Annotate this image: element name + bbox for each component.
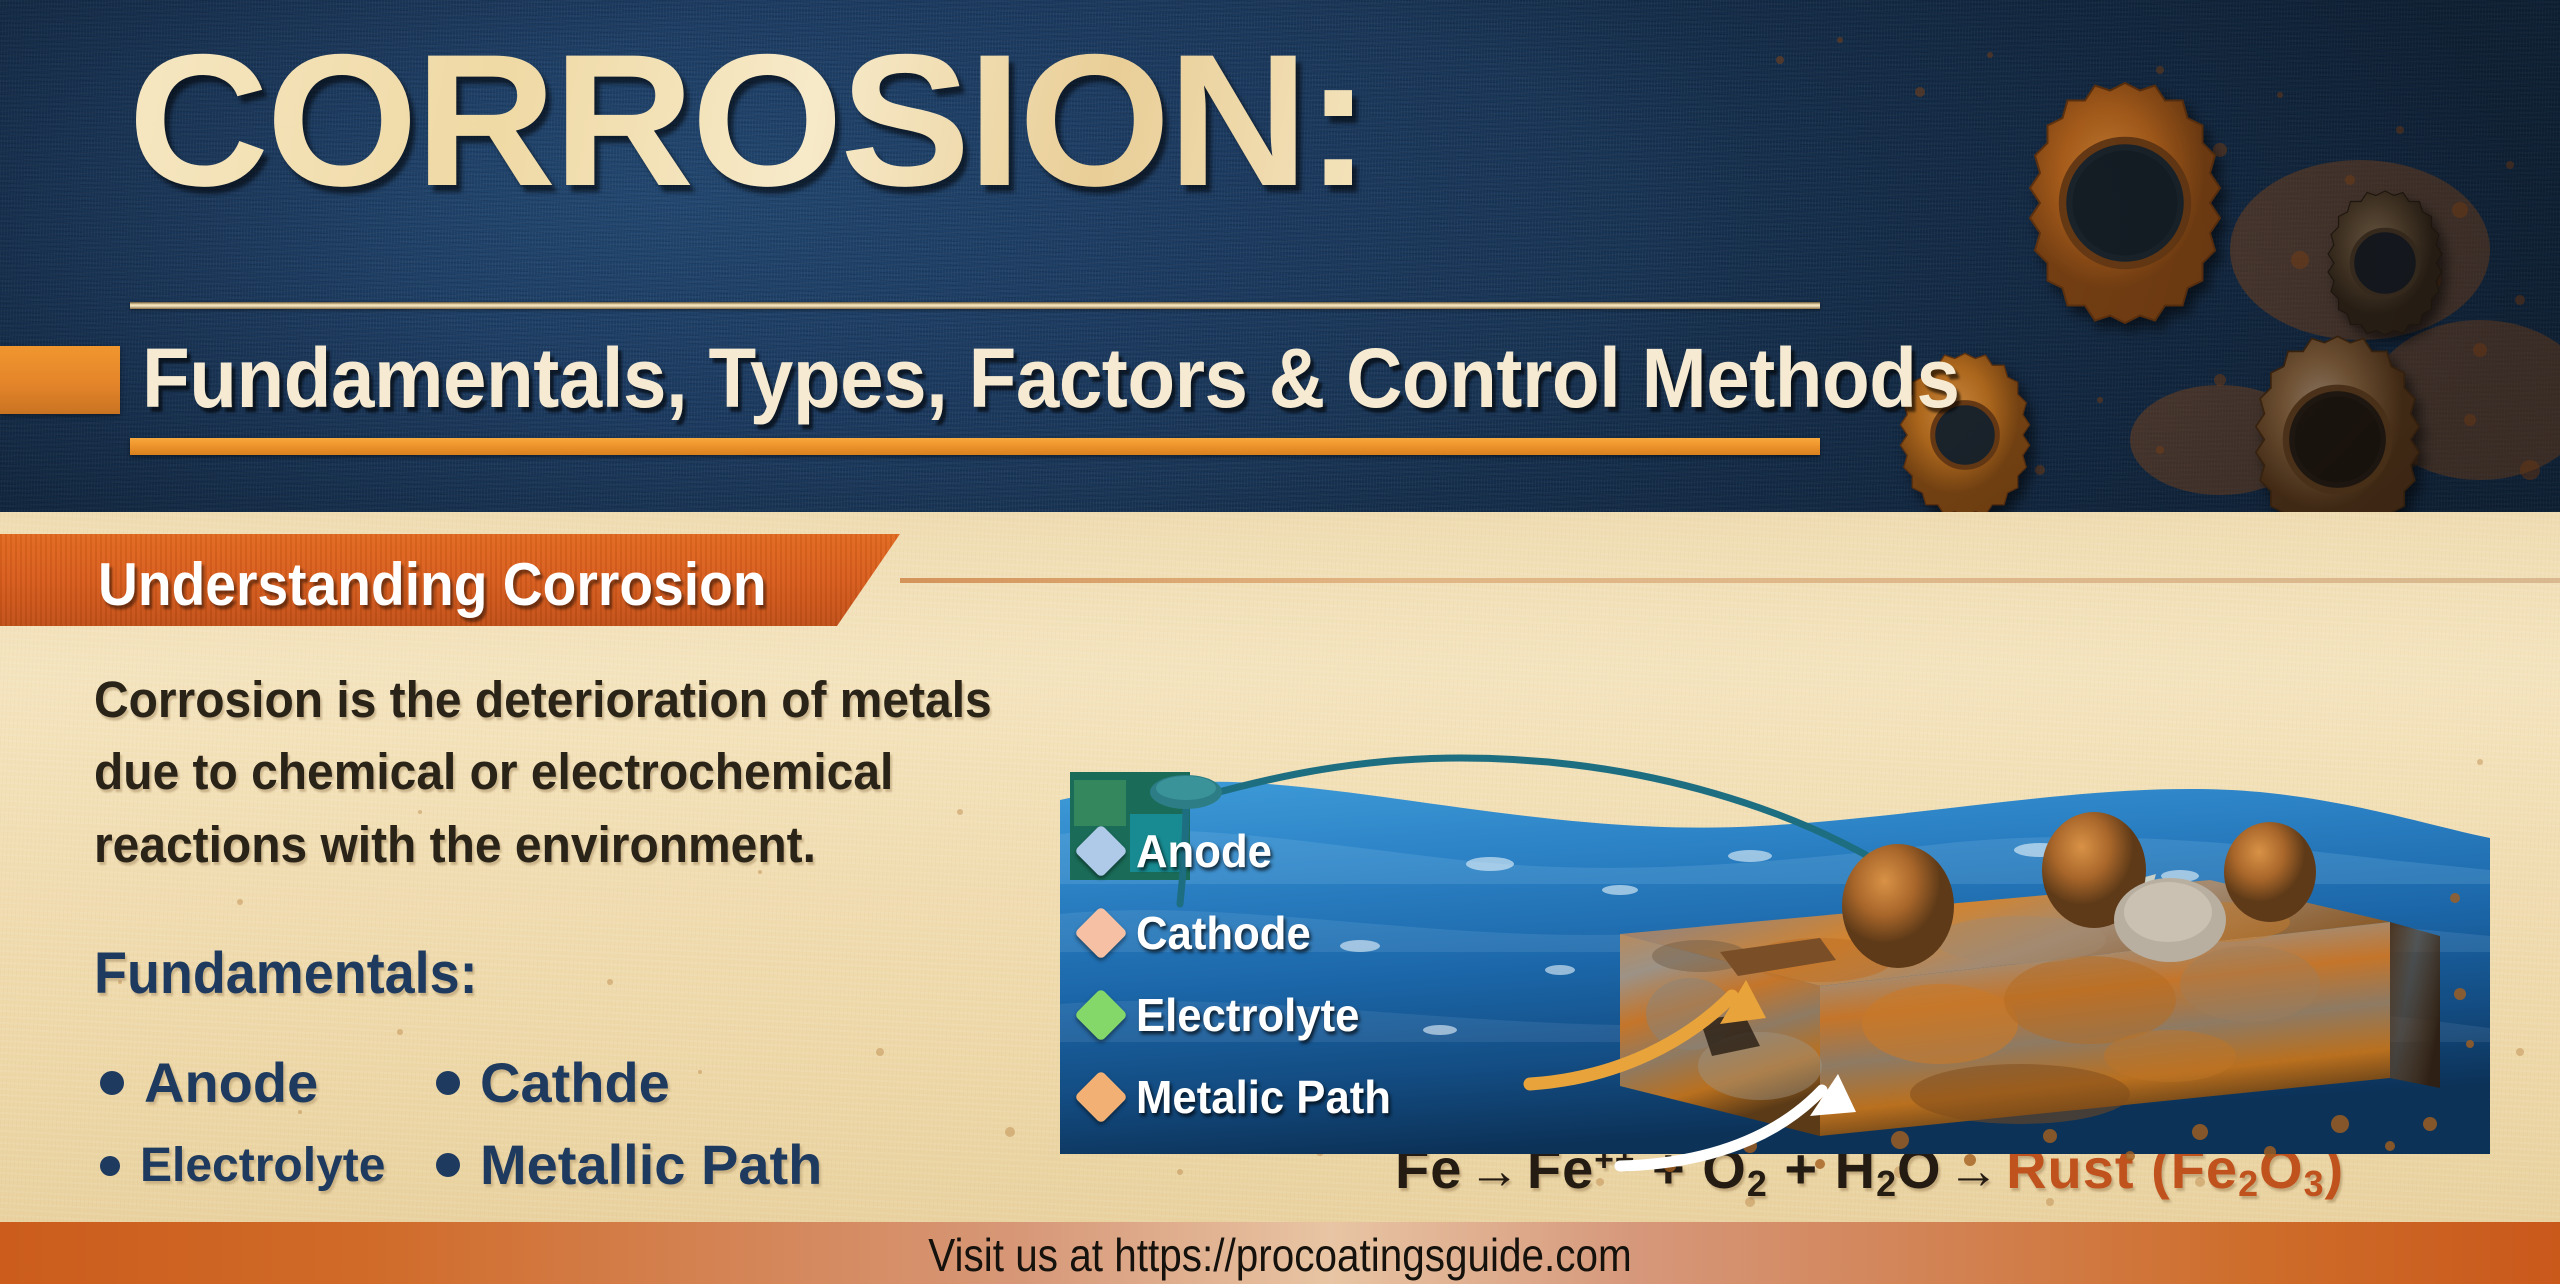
legend-item-electrolyte: Electrolyte [1082,988,1371,1042]
bullet-icon [100,1071,124,1095]
legend-diamond-icon-cathode [1074,906,1128,960]
fundamentals-item-label: Cathde [480,1050,670,1115]
legend-label: Cathode [1136,906,1311,960]
subtitle-underline [130,438,1820,455]
page-title: CORROSION: [128,26,1368,214]
infographic-poster: CORROSION: Fundamentals, Types, Factors … [0,0,2560,1284]
fundamentals-item-label: Electrolyte [140,1138,385,1193]
section-title: Understanding Corrosion [98,550,767,619]
legend-diamond-icon-anode [1074,824,1128,878]
electrode-cap-highlight [1156,776,1216,800]
fundamentals-item-label: Metallic Path [480,1132,822,1197]
fundamentals-item-label: Anode [144,1050,318,1115]
fundamentals-item-metallic-path: Metallic Path [436,1132,822,1197]
subtitle-accent-bar [0,346,120,414]
legend-label: Anode [1136,824,1272,878]
title-underline [130,302,1820,309]
legend-item-anode: Anode [1082,824,1279,878]
content-area: Understanding Corrosion Corrosion is the… [0,512,2560,1222]
legend-diamond-icon-electrolyte [1074,988,1128,1042]
legend-label: Electrolyte [1136,988,1359,1042]
banner-tail-rule [900,578,2560,583]
gear-icon-large [2000,78,2250,328]
bullet-icon [100,1156,120,1176]
page-subtitle: Fundamentals, Types, Factors & Control M… [142,330,1960,427]
gear-icon-medium-rust [2230,332,2445,512]
legend-diamond-icon-metalic-path [1074,1070,1128,1124]
legend-item-metalic-path: Metalic Path [1082,1070,1404,1124]
bullet-icon [436,1153,460,1177]
fundamentals-item-cathode: Cathde [436,1050,670,1115]
fundamentals-item-electrolyte: Electrolyte [100,1138,385,1193]
gear-icon-small-dark [2310,188,2460,338]
bullet-icon [436,1071,460,1095]
legend-label: Metalic Path [1136,1070,1391,1124]
fundamentals-item-anode: Anode [100,1050,318,1115]
intro-paragraph: Corrosion is the deterioration of metals… [94,664,1053,881]
legend-item-cathode: Cathode [1082,906,1320,960]
header-banner: CORROSION: Fundamentals, Types, Factors … [0,0,2560,512]
fundamentals-heading: Fundamentals: [94,940,478,1007]
footer-url-text: Visit us at https://procoatingsguide.com [154,1228,2407,1282]
